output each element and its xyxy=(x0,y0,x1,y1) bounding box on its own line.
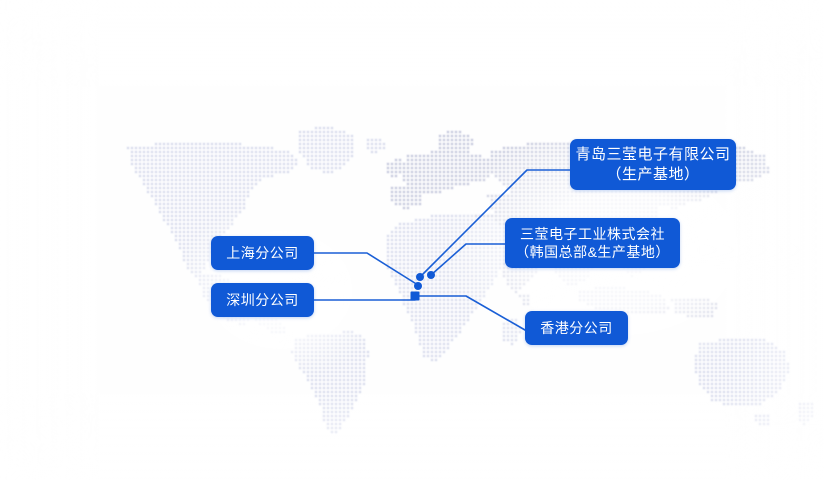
world-dot-map xyxy=(0,0,824,480)
world-map-figure: 青岛三莹电子有限公司 （生产基地） 三莹电子工业株式会社 （韩国总部&生产基地）… xyxy=(0,0,824,480)
label-qingdao-line-1: 青岛三莹电子有限公司 xyxy=(575,145,730,165)
label-hongkong-line-1: 香港分公司 xyxy=(540,319,613,337)
label-korea-line-1: 三莹电子工业株式会社 xyxy=(520,225,665,243)
label-korea-line-2: （韩国总部&生产基地） xyxy=(515,243,670,261)
label-hongkong-branch[interactable]: 香港分公司 xyxy=(525,311,628,345)
label-shanghai-branch[interactable]: 上海分公司 xyxy=(211,236,314,270)
label-korea-hq[interactable]: 三莹电子工业株式会社 （韩国总部&生产基地） xyxy=(505,218,680,268)
label-qingdao-factory[interactable]: 青岛三莹电子有限公司 （生产基地） xyxy=(570,139,736,190)
label-shenzhen-branch[interactable]: 深圳分公司 xyxy=(211,283,314,317)
label-shanghai-line-1: 上海分公司 xyxy=(226,244,299,262)
label-qingdao-line-2: （生产基地） xyxy=(606,165,699,185)
label-shenzhen-line-1: 深圳分公司 xyxy=(226,291,299,309)
